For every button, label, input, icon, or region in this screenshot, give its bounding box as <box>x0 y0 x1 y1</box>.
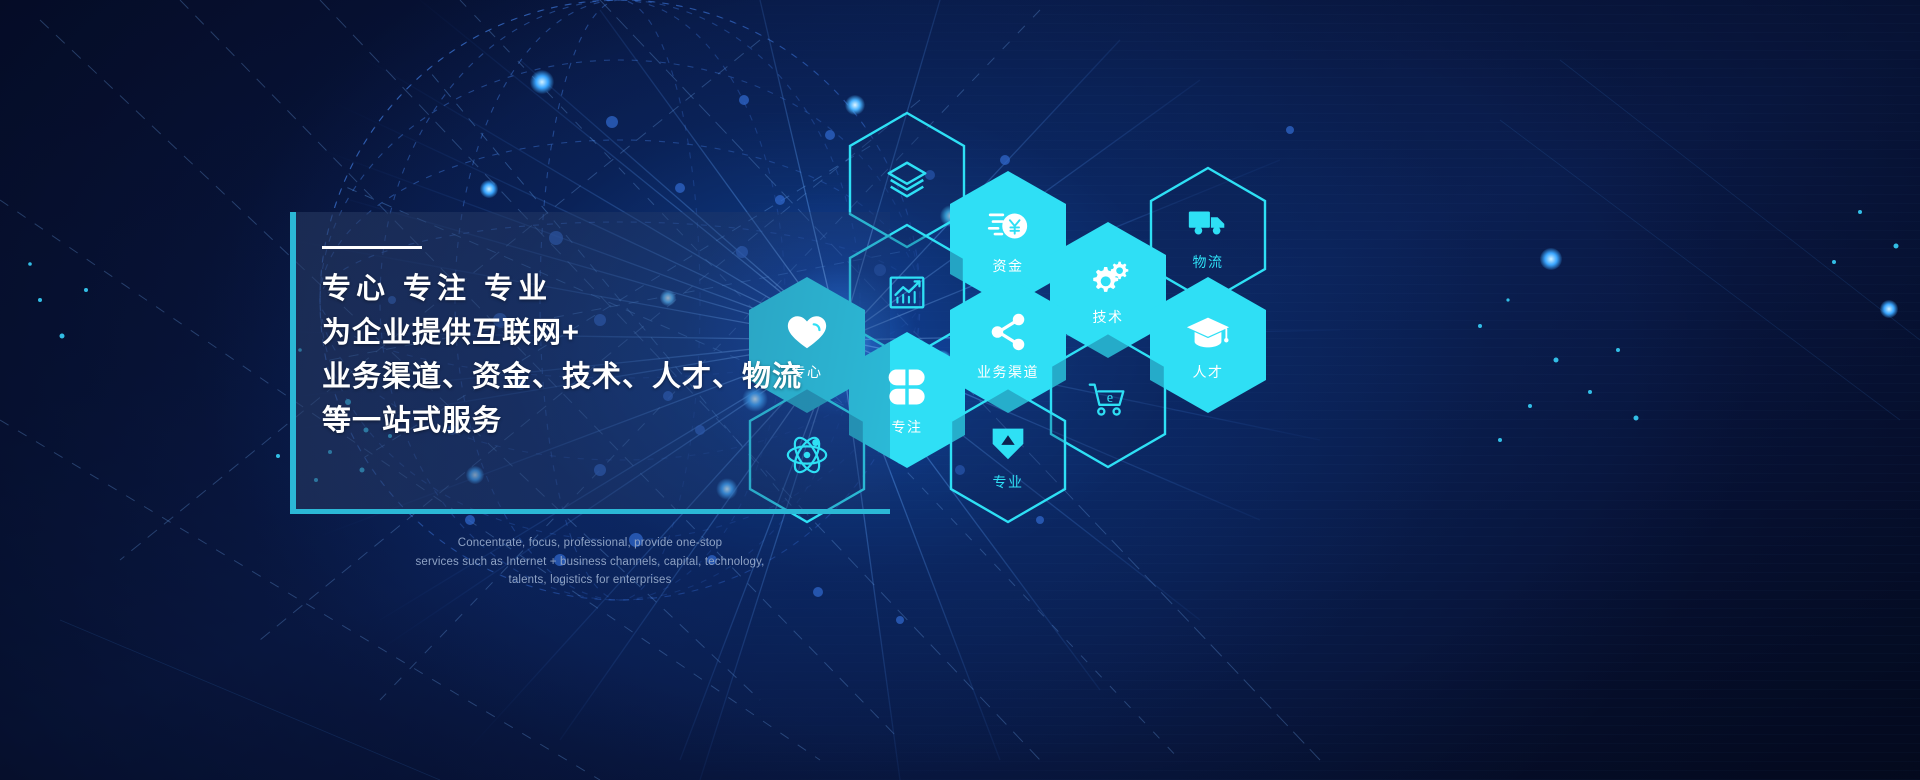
growth-chart-icon <box>884 269 930 315</box>
hex-label: 专心 <box>792 362 823 382</box>
hex-label: 人才 <box>1193 362 1224 382</box>
share-nodes-icon <box>985 309 1031 355</box>
subtitle-line-2: services such as Internet + business cha… <box>290 553 890 572</box>
headline-line-1: 专心 专注 专业 <box>322 267 890 311</box>
subtitle-block: Concentrate, focus, professional, provid… <box>290 534 890 590</box>
layers-icon <box>884 157 930 203</box>
hero-banner: 资金 物流 <box>0 0 1920 780</box>
atom-icon <box>784 432 830 478</box>
hex-label: 物流 <box>1193 252 1224 272</box>
svg-text:e: e <box>1107 390 1113 406</box>
clover-icon <box>884 364 930 410</box>
subtitle-line-1: Concentrate, focus, professional, provid… <box>290 534 890 553</box>
cart-e-icon: e <box>1085 377 1131 423</box>
subtitle-line-3: talents, logistics for enterprises <box>290 571 890 590</box>
hex-label: 技术 <box>1093 307 1124 327</box>
hex-label: 资金 <box>993 256 1024 276</box>
divider-rule <box>322 246 422 249</box>
graduation-cap-icon <box>1185 309 1231 355</box>
heart-icon <box>784 309 830 355</box>
diamond-icon <box>985 419 1031 465</box>
hex-label: 专业 <box>993 472 1024 492</box>
hexagon-cluster: 资金 物流 <box>0 0 1920 780</box>
hex-label: 专注 <box>892 417 923 437</box>
yen-coin-icon <box>985 203 1031 249</box>
truck-icon <box>1185 199 1231 245</box>
hex-label: 业务渠道 <box>977 362 1039 382</box>
gears-icon <box>1085 254 1131 300</box>
